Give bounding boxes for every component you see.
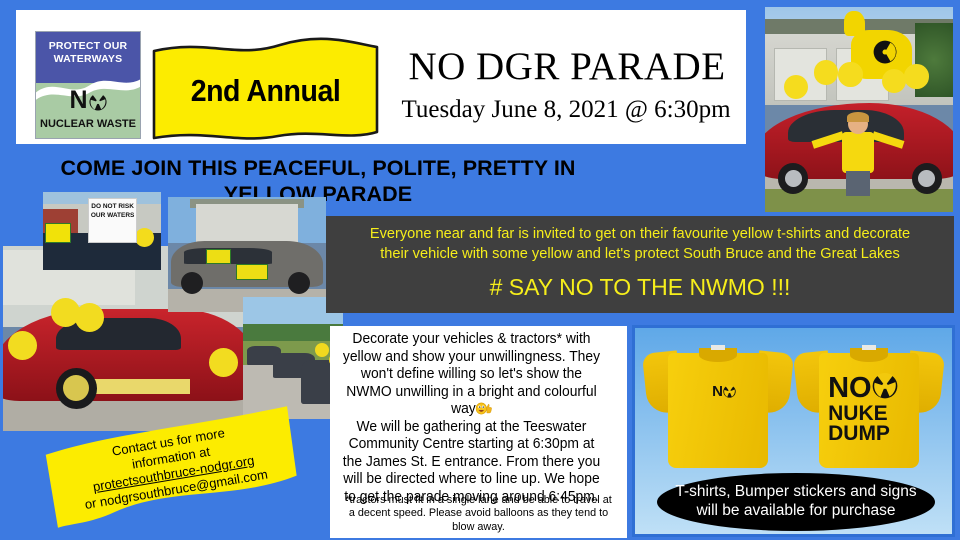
poster-root: PROTECT OUR WATERWAYS N NUCLEAR WASTE <box>0 0 960 540</box>
balloon <box>814 60 838 84</box>
invitation-line-2: their vehicle with some yellow and let's… <box>336 245 944 264</box>
chest-logo-letter: N <box>712 383 723 400</box>
balloon <box>209 348 238 377</box>
details-footnote: *tractors must fit in a single lane and … <box>343 494 614 534</box>
no-nuke-dump-door-sign <box>236 264 268 280</box>
photo-parade-convoy <box>243 297 343 419</box>
radiation-icon <box>89 91 107 116</box>
boy-yellow-shirt <box>842 132 874 173</box>
tshirt-back: NO NUKE DUMP <box>796 340 942 468</box>
details-paragraph-2: We will be gathering at the Teeswater Co… <box>343 419 600 505</box>
tshirt-front: N <box>645 340 791 468</box>
photo-decorated-suv <box>168 197 326 312</box>
shirt-body <box>668 353 767 468</box>
smiley-thumbs-up-emoji <box>476 401 492 416</box>
back-print-line-3: DUMP <box>828 424 916 444</box>
logo-line-2: WATERWAYS <box>36 53 140 65</box>
treeline <box>243 324 343 341</box>
car-wheel-rear <box>912 163 942 193</box>
page-title: NO DGR PARADE <box>392 47 742 86</box>
neck-tag <box>711 345 726 350</box>
yellow-window-sign <box>206 249 231 264</box>
balloon <box>8 331 37 360</box>
protest-placard: DO NOT RISK OUR WATERS <box>88 198 138 243</box>
header-panel: PROTECT OUR WATERWAYS N NUCLEAR WASTE <box>17 11 745 143</box>
back-print-line-1: NO <box>828 373 916 404</box>
logo-line-3: NUCLEAR WASTE <box>36 118 140 130</box>
suv-wheel-front <box>181 272 203 294</box>
logo-line-1: PROTECT OUR <box>36 40 140 52</box>
chest-logo: N <box>712 384 736 401</box>
no-nuke-dump-sign <box>45 223 71 243</box>
balloon <box>838 62 862 86</box>
invitation-line-1: Everyone near and far is invited to get … <box>336 225 944 244</box>
radiation-icon <box>723 385 736 401</box>
neck-tag <box>862 345 877 350</box>
boy-hair <box>847 112 870 122</box>
balloon <box>784 75 808 99</box>
radiation-icon <box>872 373 898 404</box>
flag-label: 2nd Annual <box>157 37 373 144</box>
merch-caption-line-2: will be available for purchase <box>696 502 895 519</box>
logo-n-mark: N <box>36 88 140 116</box>
balloon <box>135 228 154 247</box>
invitation-panel: Everyone near and far is invited to get … <box>326 216 954 313</box>
event-datetime: Tuesday June 8, 2021 @ 6:30pm <box>386 97 746 122</box>
merch-caption-line-1: T-shirts, Bumper stickers and signs <box>675 483 916 500</box>
photo-boy-with-car <box>765 7 953 212</box>
merchandise-caption: T-shirts, Bumper stickers and signs will… <box>657 473 935 531</box>
balloon <box>904 64 928 88</box>
second-annual-flag-banner: 2nd Annual <box>148 37 383 144</box>
logo-letter-n: N <box>69 86 87 114</box>
back-print: NO NUKE DUMP <box>828 373 916 444</box>
balloon <box>882 69 906 93</box>
protect-our-waterways-logo: PROTECT OUR WATERWAYS N NUCLEAR WASTE <box>35 31 141 139</box>
details-text: Decorate your vehicles & tractors* with … <box>338 331 605 506</box>
details-panel: Decorate your vehicles & tractors* with … <box>330 326 627 538</box>
photo-protest-sign: DO NOT RISK OUR WATERS <box>43 192 161 270</box>
back-print-line-2: NUKE <box>828 404 916 424</box>
car-wheel-front <box>778 163 808 193</box>
boy-shorts <box>846 171 870 196</box>
back-print-no: NO <box>828 372 872 404</box>
merchandise-panel: N NO <box>632 325 955 537</box>
house <box>196 204 297 245</box>
hashtag-slogan: # SAY NO TO THE NWMO !!! <box>336 274 944 301</box>
suv-wheel-rear <box>288 272 310 294</box>
details-paragraph-1: Decorate your vehicles & tractors* with … <box>343 331 600 417</box>
car-wheel <box>56 368 97 409</box>
balloon <box>75 303 104 332</box>
